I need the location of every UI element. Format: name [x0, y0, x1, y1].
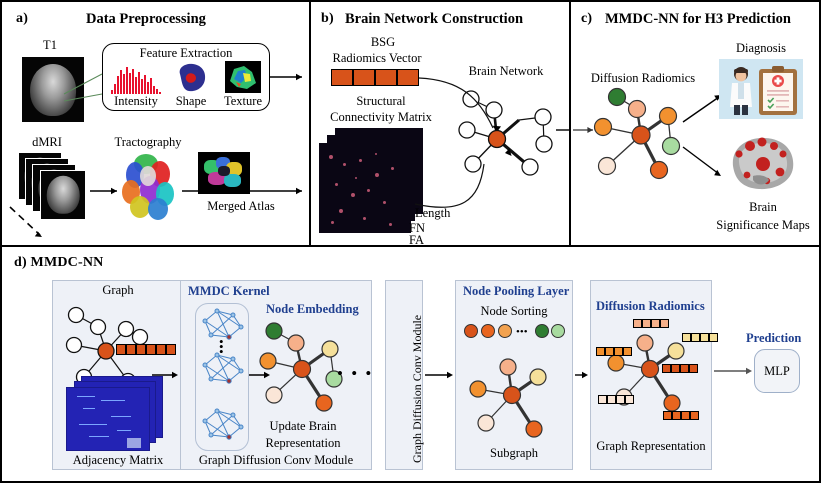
figure-root: a) Data Preprocessing T1 Feature Extract… [0, 0, 821, 483]
panel-d-flow-arrows [2, 247, 819, 483]
panel-b-brain-network-construction: b) Brain Network Construction BSG Radiom… [309, 2, 569, 245]
merged-atlas-image [198, 152, 250, 194]
panel-a-data-preprocessing: a) Data Preprocessing T1 Feature Extract… [2, 2, 309, 245]
panel-c-mmdc-nn-prediction: c) MMDC-NN for H3 Prediction Diffusion R… [569, 2, 819, 245]
label-merged-atlas: Merged Atlas [207, 199, 274, 214]
panel-d-mmdc-nn: d) MMDC-NN Graph [2, 245, 819, 481]
label-significance-maps: Significance Maps [716, 218, 809, 233]
label-brain: Brain [749, 200, 777, 215]
tractography-image [120, 152, 178, 222]
diffusion-radiomics-graph [571, 2, 821, 245]
brain-significance-map-image [723, 132, 801, 196]
label-dmri: dMRI [32, 135, 62, 150]
label-diagnosis: Diagnosis [736, 41, 786, 56]
label-tractography: Tractography [115, 135, 182, 150]
diagnosis-image [719, 59, 803, 119]
brain-network-graph [311, 2, 571, 245]
